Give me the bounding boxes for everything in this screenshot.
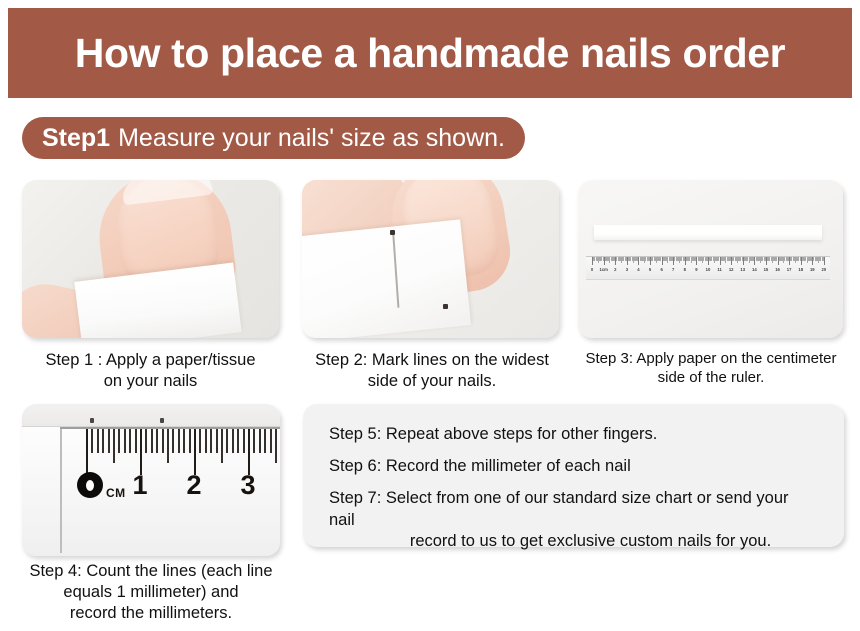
ruler-millimeter-tick — [189, 429, 191, 453]
ruler-millimeter-tick — [167, 429, 169, 463]
caption-line: Step 2: Mark lines on the widest — [296, 350, 568, 371]
ruler-number: 4 — [637, 267, 639, 272]
ruler-number: 11 — [717, 267, 721, 272]
ruler-millimeter-tick — [91, 429, 93, 453]
steps-5-7-panel: Step 5: Repeat above steps for other fin… — [303, 404, 844, 547]
ruler-millimeter-tick — [97, 429, 99, 453]
caption-step4: Step 4: Count the lines (each line equal… — [6, 561, 296, 623]
ruler-label-2: 2 — [186, 470, 201, 501]
step7-text: Step 7: Select from one of our standard … — [329, 488, 818, 552]
ruler-millimeter-tick — [178, 429, 180, 453]
ruler-number: 6 — [660, 267, 662, 272]
ruler-zero-hole — [86, 480, 94, 491]
ruler-number: 1cm — [599, 267, 607, 272]
caption-line: Step 3: Apply paper on the centimeter — [572, 350, 850, 369]
ruler-number: 18 — [798, 267, 803, 272]
ruler-number: 13 — [740, 267, 745, 272]
ruler-millimeter-tick — [199, 429, 201, 453]
ruler-millimeter-tick — [270, 429, 272, 453]
ruler-millimeter-tick — [145, 429, 147, 453]
caption-line: Step 1 : Apply a paper/tissue — [8, 350, 293, 371]
ruler-millimeter-tick — [129, 429, 131, 453]
ruler-millimeter-tick — [102, 429, 104, 453]
caption-line: record the millimeters. — [6, 603, 296, 624]
ruler-millimeter-tick — [124, 429, 126, 453]
ruler-millimeter-tick — [237, 429, 239, 453]
ruler-millimeter-tick — [226, 429, 228, 453]
step6-text: Step 6: Record the millimeter of each na… — [329, 456, 818, 477]
ruler-number: 5 — [649, 267, 651, 272]
ruler-millimeter-tick — [194, 429, 196, 475]
ruler-shape: 01cm234567891011121314151617181920 — [586, 256, 830, 280]
ruler-number: 7 — [672, 267, 674, 272]
ruler-millimeter-tick — [156, 429, 158, 453]
ruler-number: 2 — [614, 267, 616, 272]
ruler-millimeter-tick — [113, 429, 115, 463]
ruler-tick-marks — [586, 257, 830, 266]
photo-card-step3: 01cm234567891011121314151617181920 — [578, 180, 843, 338]
ruler-millimeter-tick — [253, 429, 255, 453]
ruler-number: 20 — [822, 267, 827, 272]
paper-strip-shape — [594, 225, 822, 240]
step5-text: Step 5: Repeat above steps for other fin… — [329, 424, 818, 445]
ruler-millimeter-tick — [221, 429, 223, 463]
ruler-millimeter-tick — [205, 429, 207, 453]
ruler-upper-band — [22, 404, 280, 427]
ruler-millimeter-tick — [151, 429, 153, 453]
ruler-millimeter-tick — [183, 429, 185, 453]
photo-card-step1 — [22, 180, 279, 338]
ruler-millimeter-tick — [172, 429, 174, 453]
ruler-number: 12 — [729, 267, 734, 272]
ruler-millimeter-tick — [140, 429, 142, 475]
ruler-millimeter-tick — [275, 429, 277, 463]
photo-card-step2 — [302, 180, 559, 338]
step1-badge-number: Step1 — [42, 126, 110, 151]
ruler-millimeter-tick — [232, 429, 234, 453]
caption-step3: Step 3: Apply paper on the centimeter si… — [572, 350, 850, 388]
ruler-number: 14 — [752, 267, 757, 272]
caption-line: side of your nails. — [296, 371, 568, 392]
pencil-mark-left — [90, 418, 94, 423]
ruler-millimeter-tick — [118, 429, 120, 453]
ruler-zero-marker — [77, 472, 103, 498]
caption-line: on your nails — [8, 371, 293, 392]
ruler-millimeter-tick — [86, 429, 88, 475]
ruler-number: 16 — [775, 267, 780, 272]
ruler-number: 0 — [591, 267, 593, 272]
step7-line1: Step 7: Select from one of our standard … — [329, 489, 789, 528]
caption-step2: Step 2: Mark lines on the widest side of… — [296, 350, 568, 392]
ruler-unit-label: CM — [106, 486, 126, 500]
step1-badge: Step1 Measure your nails' size as shown. — [22, 117, 525, 159]
ruler-left-edge — [60, 427, 62, 553]
step1-badge-text: Measure your nails' size as shown. — [118, 126, 505, 151]
ruler-number: 3 — [626, 267, 628, 272]
ruler-number: 8 — [684, 267, 686, 272]
caption-line: Step 4: Count the lines (each line — [6, 561, 296, 582]
ruler-number: 17 — [787, 267, 792, 272]
ruler-millimeter-tick — [216, 429, 218, 453]
page-title: How to place a handmade nails order — [75, 33, 786, 74]
ruler-millimeter-tick — [210, 429, 212, 453]
ruler-millimeter-tick — [264, 429, 266, 453]
paper-strip-shape — [302, 219, 471, 338]
ruler-millimeter-tick — [135, 429, 137, 453]
ruler-millimeter-tick — [108, 429, 110, 453]
ruler-label-1: 1 — [132, 470, 147, 501]
pencil-mark-right — [160, 418, 164, 423]
mark-dot-top — [390, 230, 395, 235]
caption-step1: Step 1 : Apply a paper/tissue on your na… — [8, 350, 293, 392]
caption-line: equals 1 millimeter) and — [6, 582, 296, 603]
ruler-millimeter-tick — [259, 429, 261, 453]
ruler-number: 9 — [695, 267, 697, 272]
step7-line2: record to us to get exclusive custom nai… — [329, 531, 818, 552]
ruler-number: 19 — [810, 267, 815, 272]
caption-line: side of the ruler. — [572, 369, 850, 388]
ruler-number-labels: 01cm234567891011121314151617181920 — [586, 266, 830, 278]
ruler-label-3: 3 — [240, 470, 255, 501]
header-banner: How to place a handmade nails order — [8, 8, 852, 98]
ruler-millimeter-tick — [162, 429, 164, 453]
ruler-number: 15 — [764, 267, 769, 272]
mark-dot-bottom — [443, 304, 448, 309]
ruler-millimeter-tick — [248, 429, 250, 475]
ruler-millimeter-tick — [243, 429, 245, 453]
photo-card-step4: CM 1 2 3 — [22, 404, 280, 556]
ruler-number: 10 — [706, 267, 711, 272]
ruler-tick — [824, 257, 825, 265]
